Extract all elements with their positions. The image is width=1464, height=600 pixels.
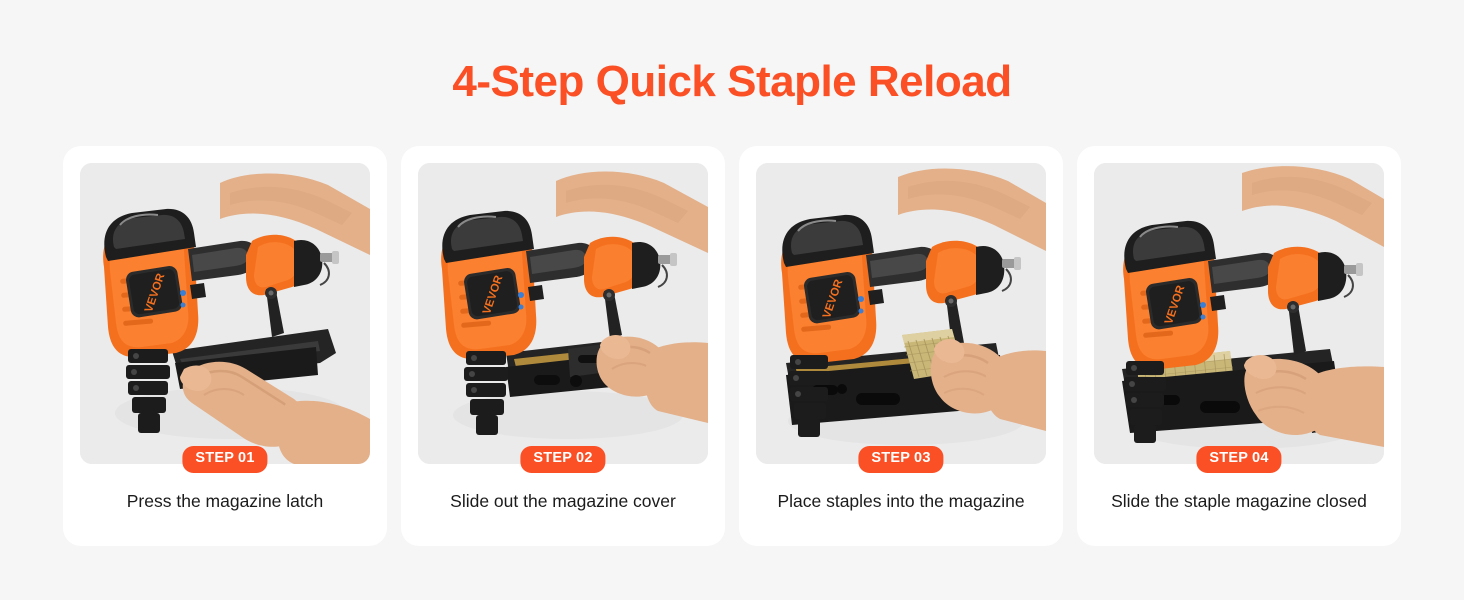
- step-badge: STEP 03: [858, 446, 943, 473]
- step-caption: Press the magazine latch: [63, 491, 387, 512]
- step-caption: Slide out the magazine cover: [401, 491, 725, 512]
- step-card[interactable]: VEVOR: [401, 146, 725, 546]
- infographic-page: 4-Step Quick Staple Reload: [0, 0, 1464, 600]
- step-photo: VEVOR: [756, 163, 1046, 464]
- staple-gun-illustration: VEVOR: [1094, 163, 1384, 464]
- step-badge: STEP 01: [182, 446, 267, 473]
- steps-container: VEVOR: [63, 146, 1401, 546]
- step-badge: STEP 02: [520, 446, 605, 473]
- step-card[interactable]: VEVOR: [1077, 146, 1401, 546]
- page-title: 4-Step Quick Staple Reload: [0, 57, 1464, 107]
- step-photo: VEVOR: [80, 163, 370, 464]
- step-card[interactable]: VEVOR: [63, 146, 387, 546]
- staple-gun-illustration: VEVOR: [418, 163, 708, 464]
- step-card[interactable]: VEVOR: [739, 146, 1063, 546]
- step-photo: VEVOR: [1094, 163, 1384, 464]
- step-badge: STEP 04: [1196, 446, 1281, 473]
- step-caption: Place staples into the magazine: [739, 491, 1063, 512]
- staple-gun-illustration: VEVOR: [756, 163, 1046, 464]
- staple-gun-illustration: VEVOR: [80, 163, 370, 464]
- step-caption: Slide the staple magazine closed: [1077, 491, 1401, 512]
- step-photo: VEVOR: [418, 163, 708, 464]
